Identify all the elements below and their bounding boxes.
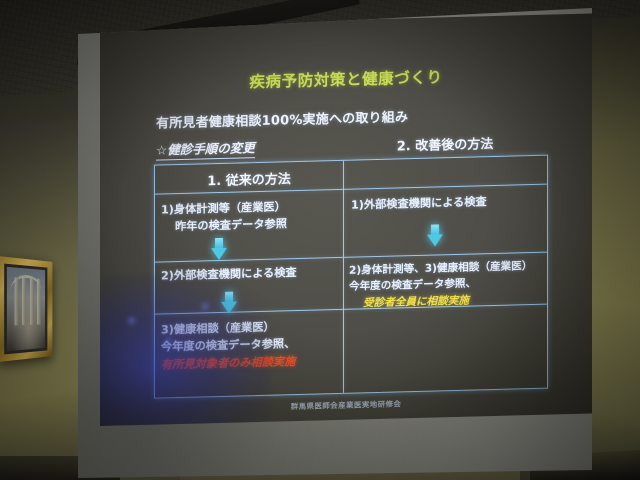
slide-section-heading: ☆健診手順の変更 <box>156 137 255 160</box>
left-step-1: 1)身体計測等（産業医） 昨年の検査データ参照 <box>161 197 341 236</box>
picture-artwork <box>7 267 45 351</box>
left-step-2-line-1: 2)外部検査機関による検査 <box>161 263 341 285</box>
down-arrow-icon <box>221 292 237 314</box>
right-step-2: 2)身体計測等、3)健康相談（産業医） 今年度の検査データ参照、 受診者全員に相… <box>349 258 549 312</box>
table-header-improved: 2. 改善後の方法 <box>343 132 547 156</box>
comparison-table: 1. 従来の方法 2. 改善後の方法 1)身体計測等（産業医） 昨年の検査データ… <box>154 155 548 399</box>
artwork-column <box>30 278 34 325</box>
table-vertical-divider <box>343 161 344 393</box>
left-step-3: 3)健康相談（産業医） 今年度の検査データ参照、 有所見対象者のみ相談実施 <box>161 317 343 374</box>
down-arrow-icon <box>211 238 227 260</box>
left-step-1-line-2: 昨年の検査データ参照 <box>161 214 341 236</box>
down-arrow-icon <box>427 224 443 246</box>
slide-subtitle: 有所見者健康相談100%実施への取り組み <box>156 106 408 131</box>
slide-title: 疾病予防対策と健康づくり <box>100 62 592 96</box>
framed-picture <box>0 256 52 362</box>
artwork-column <box>37 279 41 325</box>
right-step-1: 1)外部検査機関による検査 <box>351 192 547 214</box>
artwork-column <box>14 277 18 325</box>
right-step-1-line-1: 1)外部検査機関による検査 <box>351 192 547 214</box>
projected-slide: 疾病予防対策と健康づくり 有所見者健康相談100%実施への取り組み ☆健診手順の… <box>100 14 592 426</box>
projection-screen: 疾病予防対策と健康づくり 有所見者健康相談100%実施への取り組み ☆健診手順の… <box>48 8 592 478</box>
arrow-head <box>221 302 237 314</box>
table-header-conventional: 1. 従来の方法 <box>155 167 343 191</box>
arrow-head <box>211 248 227 260</box>
arrow-head <box>427 234 443 246</box>
left-step-3-emphasis: 有所見対象者のみ相談実施 <box>161 352 343 374</box>
artwork-column <box>22 278 26 325</box>
slide-content: 疾病予防対策と健康づくり 有所見者健康相談100%実施への取り組み ☆健診手順の… <box>100 14 592 426</box>
left-step-2: 2)外部検査機関による検査 <box>161 263 341 285</box>
screenshot-root: 疾病予防対策と健康づくり 有所見者健康相談100%実施への取り組み ☆健診手順の… <box>0 0 640 480</box>
